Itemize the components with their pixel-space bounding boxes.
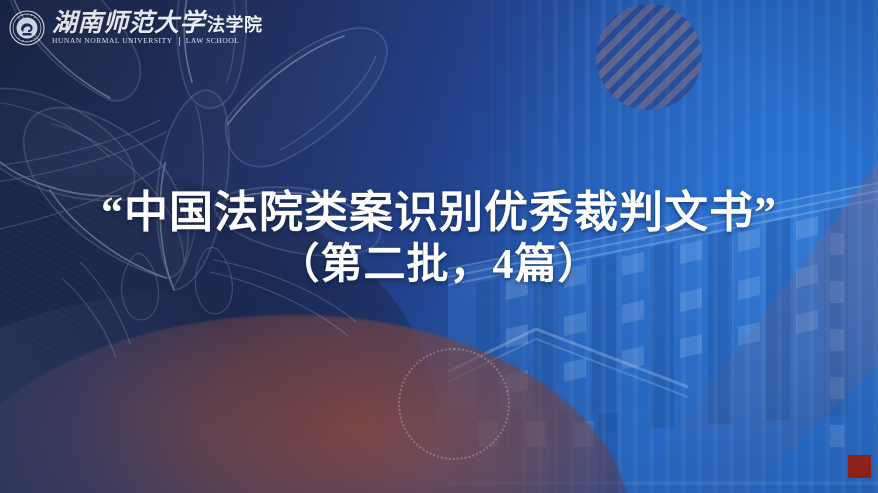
logo-divider [179, 37, 180, 46]
university-logo: 湖南师范大学 法学院 HUNAN NORMAL UNIVERSITY LAW S… [9, 10, 263, 46]
logo-university-name-cn: 湖南师范大学 [52, 11, 205, 36]
logo-school-name-cn: 法学院 [207, 16, 263, 34]
logo-english-line: HUNAN NORMAL UNIVERSITY LAW SCHOOL [52, 37, 263, 46]
logo-school-name-en: LAW SCHOOL [186, 37, 240, 45]
diagonal-striped-circle [596, 4, 702, 110]
presentation-slide: 湖南师范大学 法学院 HUNAN NORMAL UNIVERSITY LAW S… [0, 0, 878, 493]
striped-circle-stripes [596, 4, 702, 110]
logo-text-block: 湖南师范大学 法学院 HUNAN NORMAL UNIVERSITY LAW S… [52, 11, 263, 46]
dotted-outline-circle [398, 348, 510, 460]
red-square-accent [848, 455, 871, 478]
logo-chinese-line: 湖南师范大学 法学院 [52, 11, 263, 36]
logo-university-name-en: HUNAN NORMAL UNIVERSITY [52, 37, 173, 45]
hunan-normal-university-seal-icon [9, 10, 45, 46]
